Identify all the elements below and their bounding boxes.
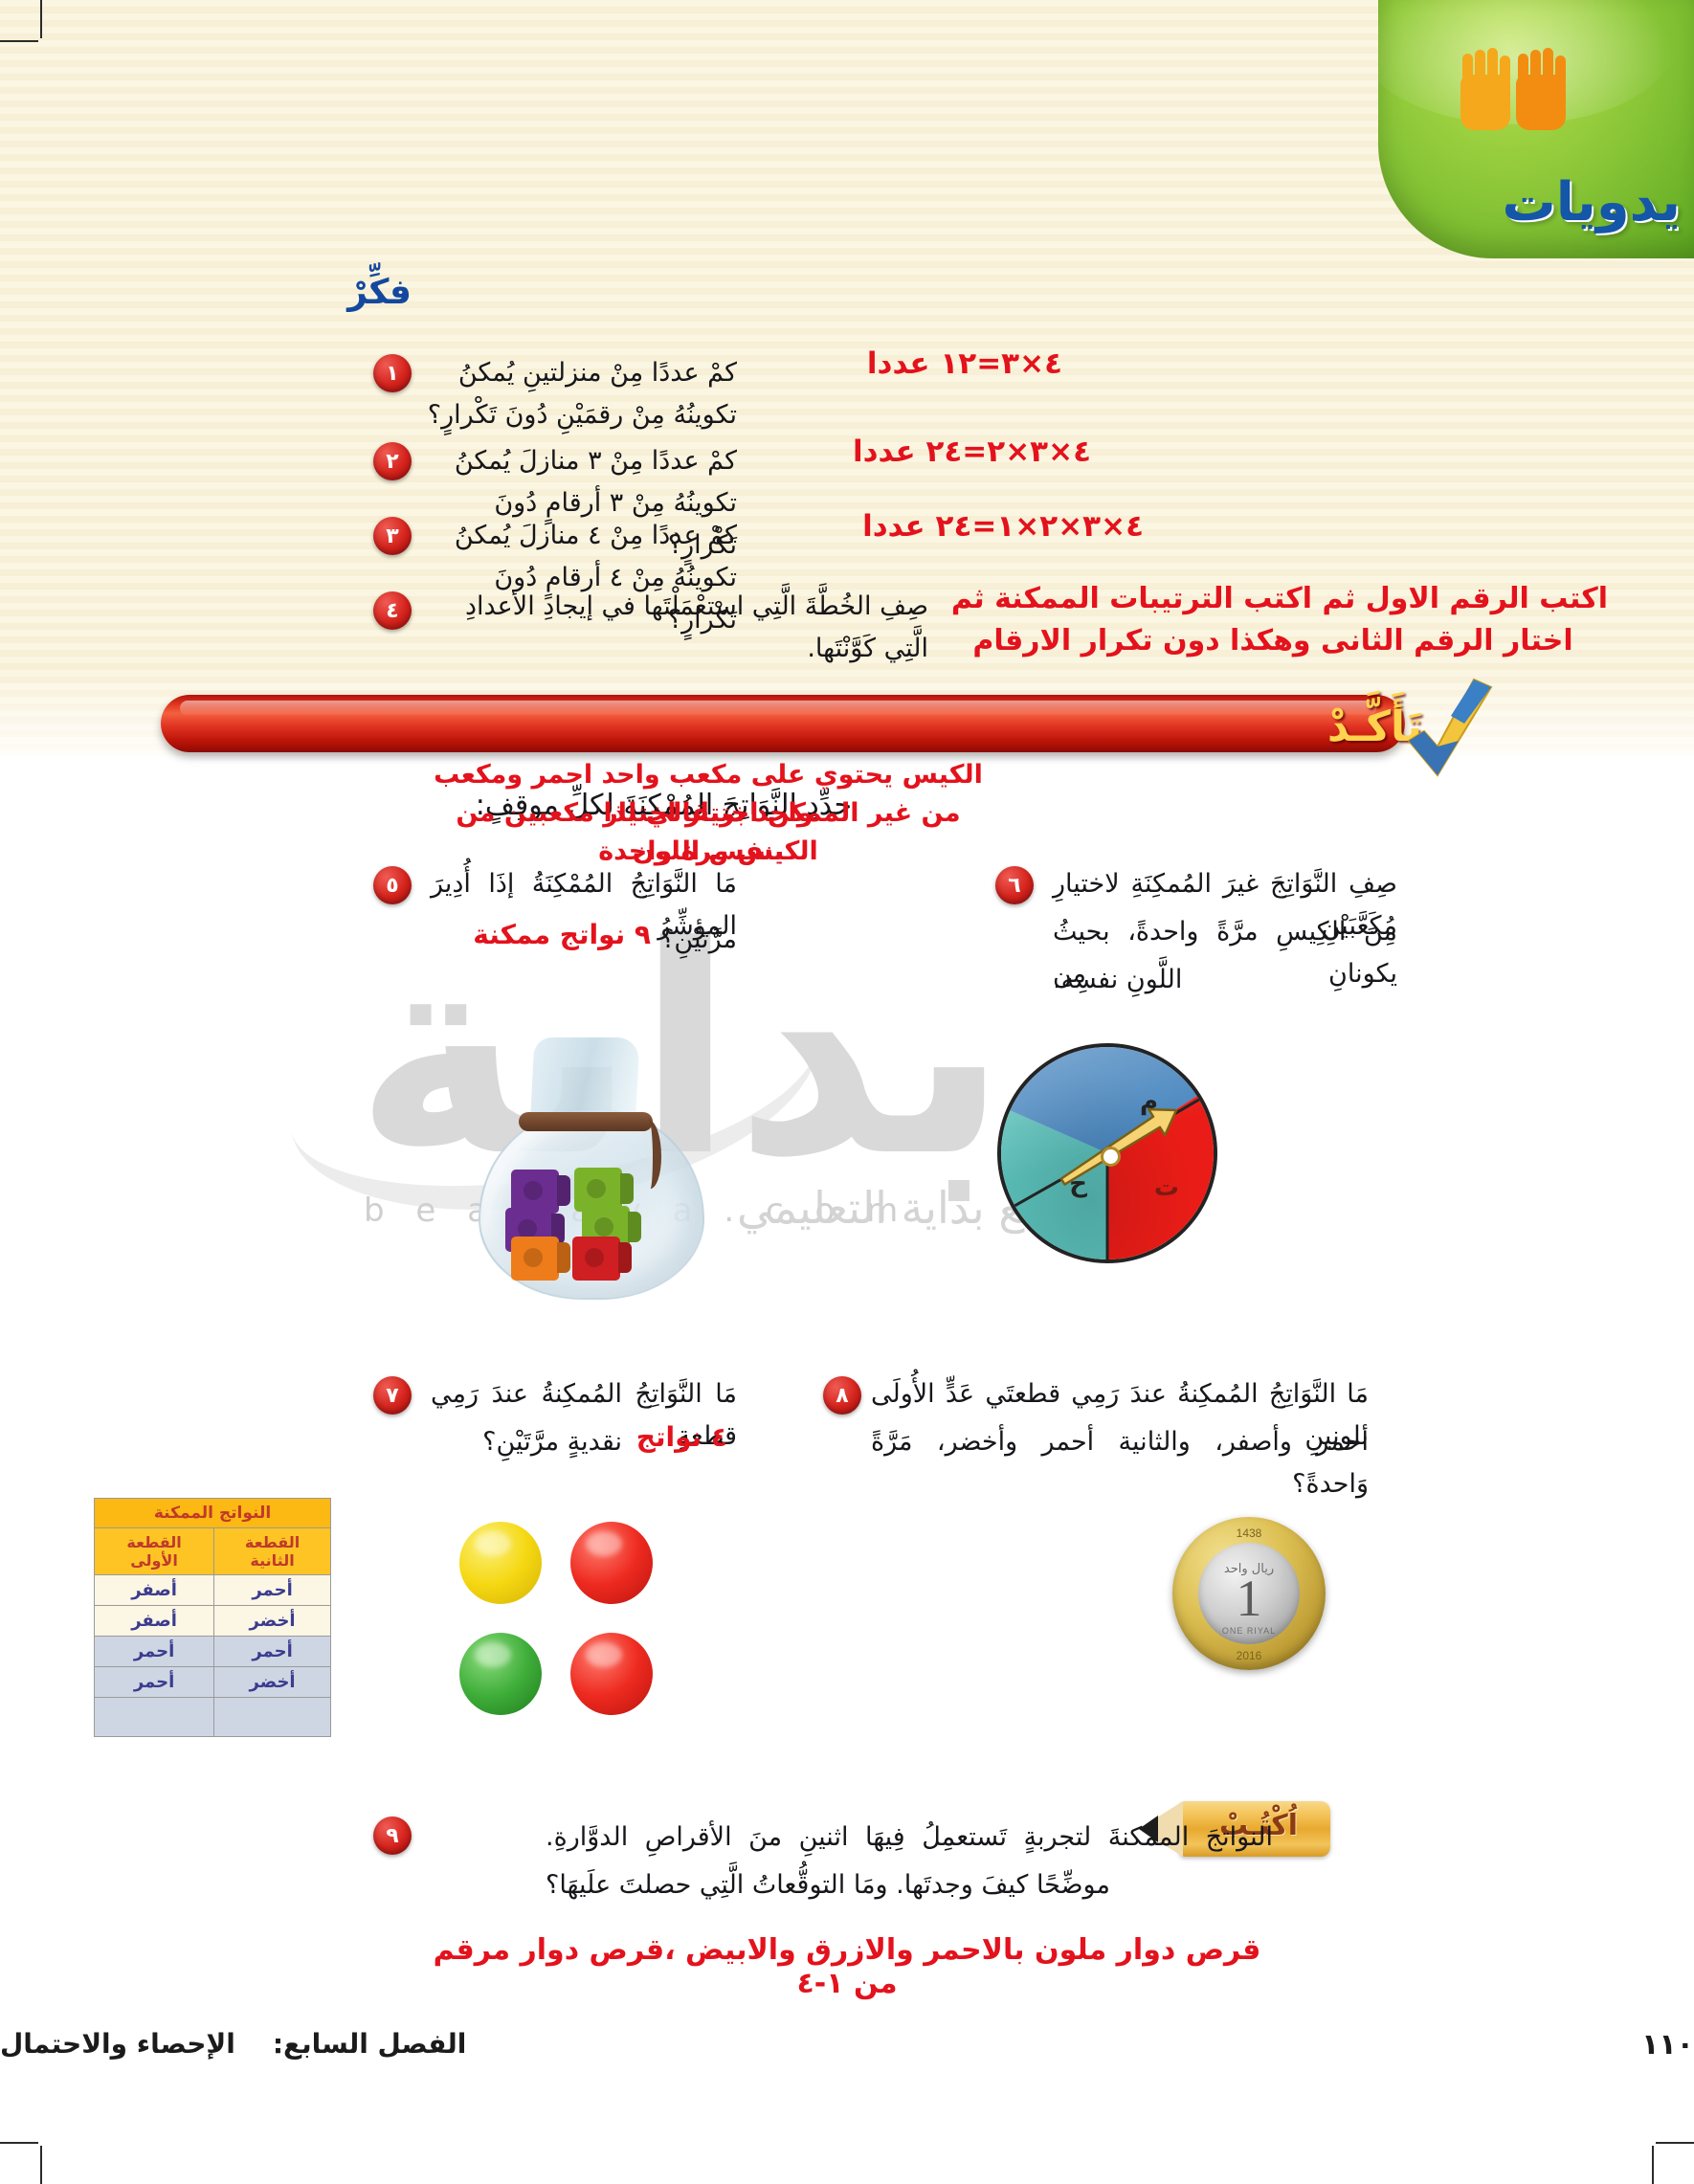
chapter-footer: الفصل السابع: الإحصاء والاحتمال xyxy=(0,2028,1579,2060)
cell-first-1: أصفر xyxy=(95,1575,214,1606)
question-number-2: ٢ xyxy=(373,442,412,480)
answer-5: ٩ نواتج ممكنة xyxy=(473,919,651,950)
hand-right xyxy=(1516,75,1566,130)
question-number-5: ٥ xyxy=(373,866,412,904)
cube-orange xyxy=(511,1237,559,1281)
question-number-1: ١ xyxy=(373,354,412,392)
answer-7: ٤ نواتج xyxy=(636,1421,727,1453)
counter-yellow xyxy=(459,1522,542,1604)
crop-mark-top-left-horizontal xyxy=(0,40,38,42)
question-number-4: ٤ xyxy=(373,591,412,630)
bag-tie xyxy=(519,1112,653,1131)
hand-left xyxy=(1460,75,1510,130)
cell-second-2: أخضر xyxy=(214,1606,331,1637)
question-number-6: ٦ xyxy=(995,866,1034,904)
table-row: أخضر أحمر xyxy=(95,1667,331,1698)
counter-green xyxy=(459,1633,542,1715)
chapter-title: الإحصاء والاحتمال xyxy=(0,2028,235,2060)
coin-year-gregorian: 2016 xyxy=(1172,1649,1326,1662)
question-number-7: ٧ xyxy=(373,1376,412,1415)
two-color-counters-icon xyxy=(459,1522,689,1732)
question-number-8: ٨ xyxy=(823,1376,861,1415)
question-number-9: ٩ xyxy=(373,1816,412,1855)
two-hands-icon xyxy=(1453,38,1596,130)
hands-on-tab: يدويات xyxy=(1378,0,1694,258)
table-row: أحمر أحمر xyxy=(95,1637,331,1667)
coin-denomination: 1 xyxy=(1237,1575,1262,1621)
answer-2: ٤×٣×٢=٢٤ عددا xyxy=(853,435,1091,469)
table-header-row: القطعة الثانية القطعة الأولى xyxy=(95,1528,331,1575)
crop-mark-bottom-left-horizontal xyxy=(0,2142,38,2144)
column-header-second: القطعة الثانية xyxy=(214,1528,331,1575)
chapter-label: الفصل السابع: xyxy=(273,2028,467,2060)
think-heading: فكِّرْ xyxy=(347,273,412,312)
counter-red-1 xyxy=(570,1522,653,1604)
saudi-one-riyal-coin-icon: 1438 2016 ريال واحد 1 ONE RIYAL xyxy=(1172,1517,1326,1670)
hands-on-label: يدويات xyxy=(1502,171,1681,234)
blue-gold-checkmark-icon xyxy=(1392,676,1506,781)
crop-mark-bottom-right-vertical xyxy=(1652,2146,1654,2184)
spinner-wheel-icon: م ح ت xyxy=(997,1043,1217,1263)
coin-english-value: ONE RIYAL xyxy=(1198,1626,1300,1636)
column-header-first: القطعة الأولى xyxy=(95,1528,214,1575)
cube-red xyxy=(572,1237,620,1281)
question-text-6-line-3: اللَّونِ نفسِه. xyxy=(1053,959,1397,1001)
answer-4-line-2: اختار الرقم الثانى وهكذا دون تكرار الارق… xyxy=(938,624,1608,657)
answer-9: قرص دوار ملون بالاحمر والازرق والابيض ،ق… xyxy=(421,1933,1273,2000)
question-number-3: ٣ xyxy=(373,517,412,555)
verify-banner-bar xyxy=(161,695,1405,752)
crop-mark-bottom-right-horizontal xyxy=(1656,2142,1694,2144)
cell-first-3: أحمر xyxy=(95,1637,214,1667)
coin-arabic-value: ريال واحد xyxy=(1198,1562,1300,1576)
cell-second-1: أحمر xyxy=(214,1575,331,1606)
verify-banner: تَأَكَّـدْ xyxy=(161,689,1482,760)
coin-year-hijri: 1438 xyxy=(1172,1527,1326,1540)
table-row: أخضر أصفر xyxy=(95,1606,331,1637)
bag-of-cubes-icon xyxy=(450,1024,737,1311)
spinner-hub xyxy=(1101,1147,1121,1167)
question-text-1: كمْ عددًا مِنْ منزلتينِ يُمكنُ تكوينُهُ … xyxy=(421,352,737,436)
question-text-7-line-2: نقديةٍ مرَّتَيْنِ؟ xyxy=(431,1421,622,1463)
cell-first-4: أحمر xyxy=(95,1667,214,1698)
counter-red-2 xyxy=(570,1633,653,1715)
coin-inner-disc: ريال واحد 1 ONE RIYAL xyxy=(1198,1543,1300,1644)
answer-1: ٤×٣=١٢ عددا xyxy=(867,346,1062,381)
cell-second-4: أخضر xyxy=(214,1667,331,1698)
table-row-empty xyxy=(95,1698,331,1737)
question-text-4: صِفِ الخُطَّةَ الَّتِي استعْمَلْتَها في … xyxy=(421,586,928,670)
answer-4-line-1: اكتب الرقم الاول ثم اكتب الترتيبات الممك… xyxy=(938,582,1608,615)
table-row: أحمر أصفر xyxy=(95,1575,331,1606)
crop-mark-top-left-vertical xyxy=(40,0,42,38)
table-title-row: النواتج الممكنة xyxy=(95,1499,331,1528)
answer-3: ٤×٣×٢×١=٢٤ عددا xyxy=(862,509,1144,544)
cell-second-3: أحمر xyxy=(214,1637,331,1667)
question-text-9-line-2: موضِّحًا كيفَ وجدتَها. ومَا التوقُّعاتُ … xyxy=(546,1864,1273,1906)
outcome-table-title: النواتج الممكنة xyxy=(95,1499,331,1528)
question-text-9-line-1: النواتجَ الممكنةَ لتجربةٍ تَستعمِلُ فِيه… xyxy=(546,1816,1273,1859)
outcome-table: النواتج الممكنة القطعة الثانية القطعة ال… xyxy=(94,1498,331,1737)
crop-mark-bottom-left-vertical xyxy=(40,2146,42,2184)
question-text-8-line-2: أحمر وأصفر، والثانية أحمر وأخضر، مَرَّةً… xyxy=(871,1421,1369,1505)
cell-first-2: أصفر xyxy=(95,1606,214,1637)
